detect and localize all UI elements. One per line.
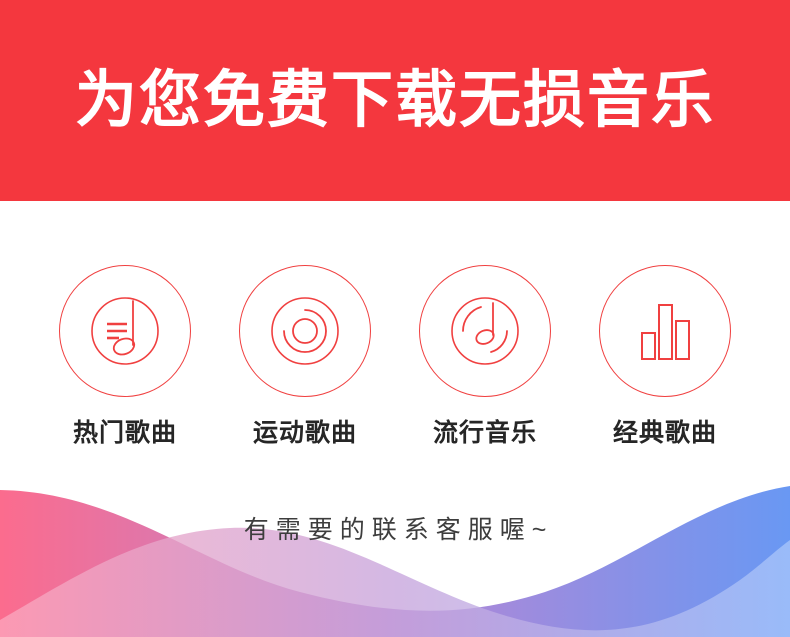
customer-service-note: 有需要的联系客服喔~ [0,518,790,543]
wave-decoration [0,470,790,637]
category-item-pop-music[interactable]: 流行音乐 [395,265,575,446]
category-row: 热门歌曲 运动歌曲 流行音乐 [0,201,790,471]
music-note-waves-icon [419,265,551,397]
page-title: 为您免费下载无损音乐 [75,70,715,132]
vinyl-record-icon [239,265,371,397]
header-banner: 为您免费下载无损音乐 [0,0,790,201]
category-label: 运动歌曲 [253,421,357,446]
promo-page: 为您免费下载无损音乐 热门歌曲 [0,0,790,637]
category-label: 经典歌曲 [613,421,717,446]
category-label: 流行音乐 [433,421,537,446]
music-note-lines-icon [59,265,191,397]
category-item-classic-songs[interactable]: 经典歌曲 [575,265,755,446]
equalizer-bars-icon [599,265,731,397]
category-label: 热门歌曲 [73,421,177,446]
category-item-sport-songs[interactable]: 运动歌曲 [215,265,395,446]
category-item-hot-songs[interactable]: 热门歌曲 [35,265,215,446]
